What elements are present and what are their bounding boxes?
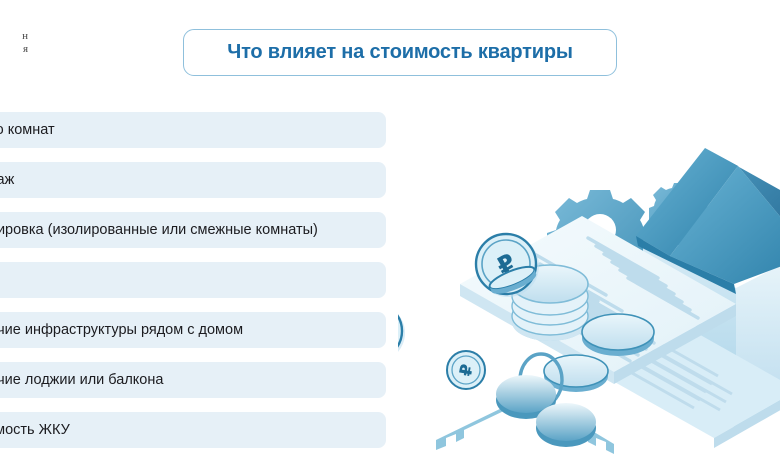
list-item[interactable]: Наличие инфраструктуры рядом с домом (0, 312, 386, 348)
list-item-label: Наличие лоджии или балкона (0, 373, 163, 388)
factor-list: Число комнат Метраж Планировка (изолиров… (0, 112, 386, 462)
list-item[interactable]: Стоимость ЖКУ (0, 412, 386, 448)
list-item-label: Стоимость ЖКУ (0, 423, 70, 438)
list-item-label: Метраж (0, 173, 14, 188)
list-item[interactable]: Наличие лоджии или балкона (0, 362, 386, 398)
cropped-corner-text: н я (0, 30, 28, 56)
list-item[interactable]: Планировка (изолированные или смежные ко… (0, 212, 386, 248)
list-item[interactable]: Метраж (0, 162, 386, 198)
list-item-label: Планировка (изолированные или смежные ко… (0, 223, 318, 238)
list-item[interactable]: Этаж (0, 262, 386, 298)
page-title-box: Что влияет на стоимость квартиры (183, 29, 617, 76)
list-item-label: Число комнат (0, 123, 55, 138)
real-estate-illustration: ₽ ₽ ₽ (398, 88, 780, 470)
list-item-label: Наличие инфраструктуры рядом с домом (0, 323, 243, 338)
page-title: Что влияет на стоимость квартиры (227, 41, 573, 64)
list-item[interactable]: Число комнат (0, 112, 386, 148)
